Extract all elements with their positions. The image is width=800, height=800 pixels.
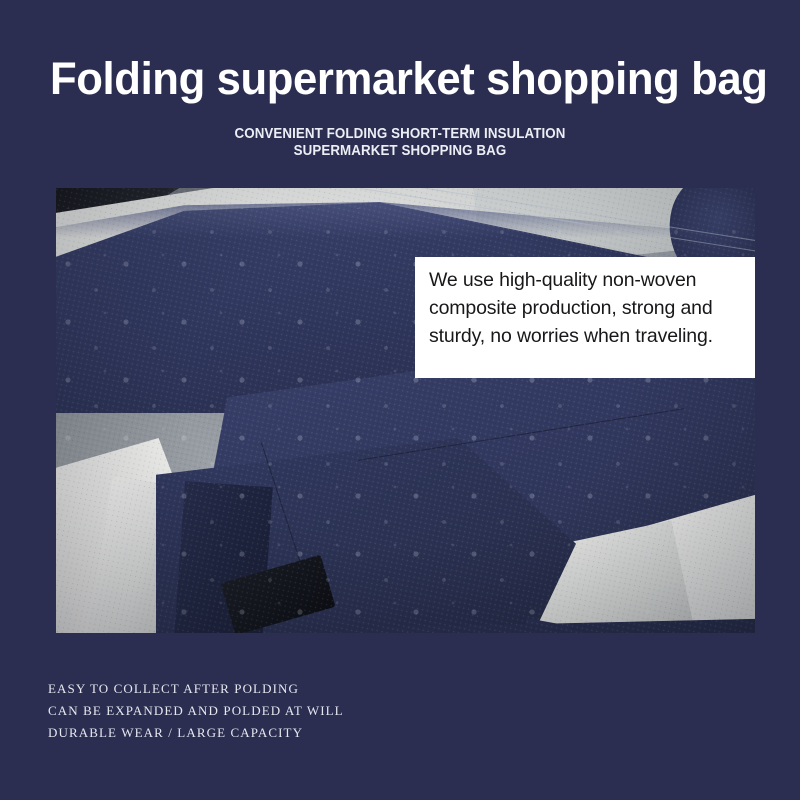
- photo-vignette: [56, 188, 755, 633]
- product-photo: We use high-quality non-woven composite …: [56, 188, 755, 633]
- feature-line-3: DURABLE WEAR / LARGE CAPACITY: [48, 722, 448, 744]
- callout-text: We use high-quality non-woven composite …: [429, 266, 743, 350]
- feature-line-1: EASY TO COLLECT AFTER POLDING: [48, 678, 448, 700]
- page-title: Folding supermarket shopping bag: [50, 54, 739, 104]
- feature-line-2: CAN BE EXPANDED AND POLDED AT WILL: [48, 700, 448, 722]
- subtitle-line-1: CONVENIENT FOLDING SHORT-TERM INSULATION: [32, 126, 768, 143]
- subtitle-line-2: SUPERMARKET SHOPPING BAG: [32, 143, 768, 160]
- header: Folding supermarket shopping bag CONVENI…: [0, 0, 800, 188]
- callout-box: We use high-quality non-woven composite …: [415, 257, 755, 378]
- page-subtitle: CONVENIENT FOLDING SHORT-TERM INSULATION…: [0, 126, 800, 160]
- feature-list: EASY TO COLLECT AFTER POLDING CAN BE EXP…: [48, 678, 448, 744]
